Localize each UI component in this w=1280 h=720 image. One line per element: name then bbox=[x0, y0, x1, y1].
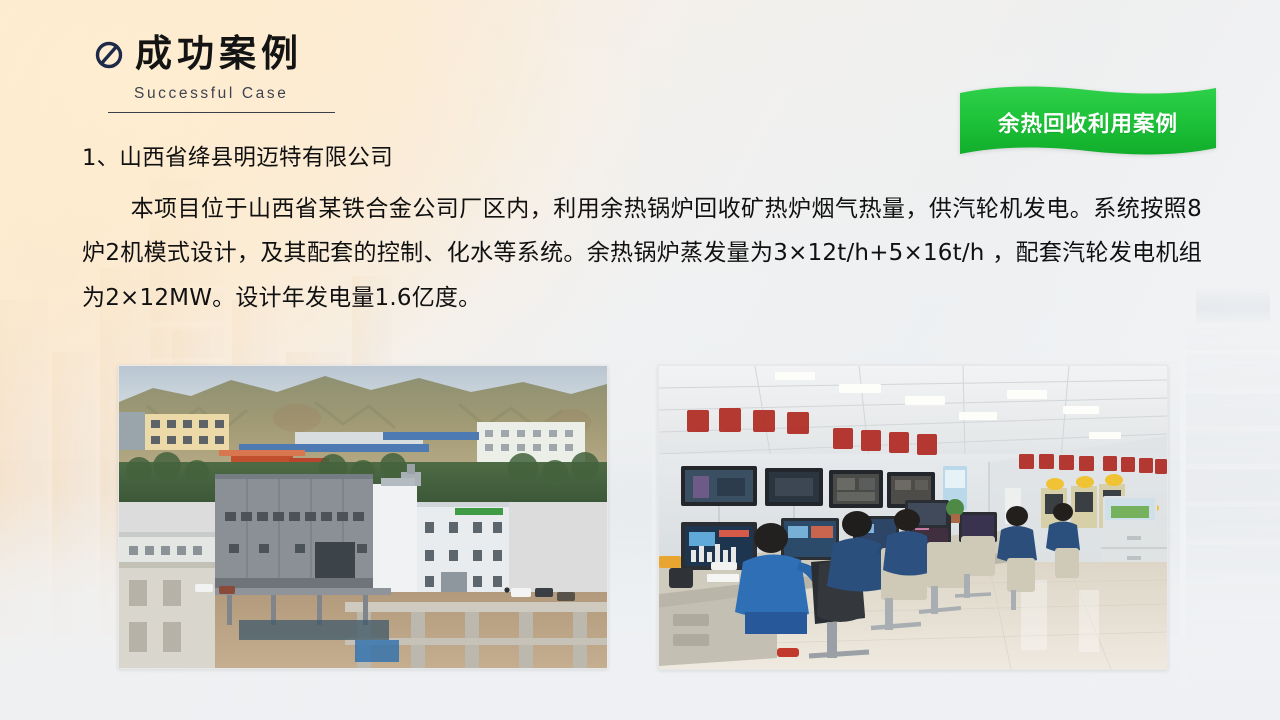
slide-canvas: 成功案例 Successful Case 余热回收利用案例 1、山西省绛县明迈特… bbox=[0, 0, 1280, 720]
case-paragraph: 本项目位于山西省某铁合金公司厂区内，利用余热锅炉回收矿热炉烟气热量，供汽轮机发电… bbox=[82, 187, 1202, 320]
title-row: 成功案例 bbox=[92, 34, 572, 75]
case-heading: 1、山西省绛县明迈特有限公司 bbox=[82, 143, 1202, 175]
page-title: 成功案例 bbox=[135, 34, 303, 75]
title-divider bbox=[108, 112, 335, 113]
factory-exterior-photo bbox=[118, 365, 608, 669]
slide-header: 成功案例 Successful Case bbox=[92, 34, 572, 113]
case-paragraph-text: 本项目位于山西省某铁合金公司厂区内，利用余热锅炉回收矿热炉烟气热量，供汽轮机发电… bbox=[82, 196, 1202, 311]
page-subtitle: Successful Case bbox=[134, 85, 572, 103]
body-content: 1、山西省绛县明迈特有限公司 本项目位于山西省某铁合金公司厂区内，利用余热锅炉回… bbox=[82, 143, 1202, 320]
slashed-circle-icon bbox=[92, 38, 126, 72]
control-room-photo bbox=[658, 365, 1168, 670]
